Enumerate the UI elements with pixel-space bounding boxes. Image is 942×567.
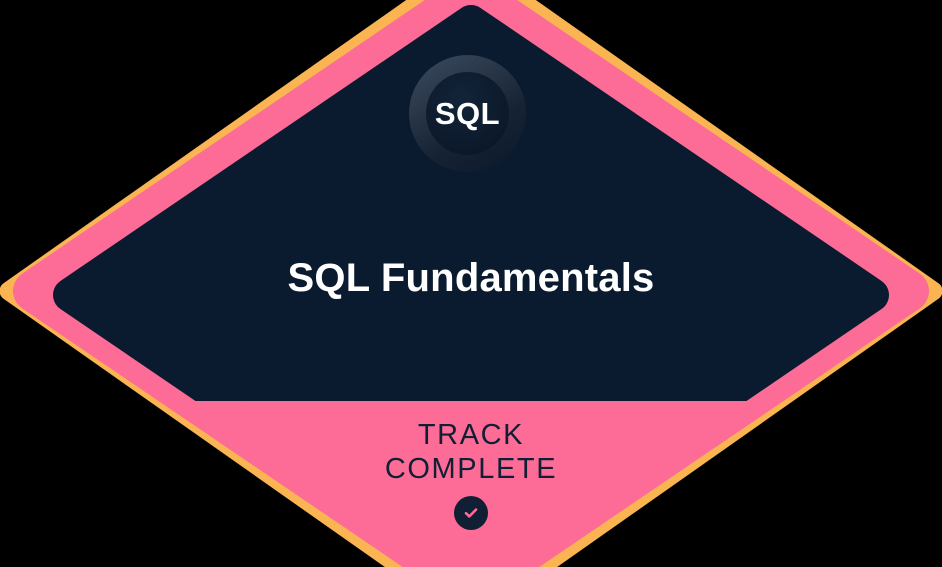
track-status-line-1: TRACK bbox=[418, 418, 524, 452]
check-mark-icon bbox=[462, 504, 480, 522]
emblem-label: SQL bbox=[435, 98, 500, 129]
sql-emblem-icon: SQL bbox=[409, 55, 526, 172]
track-status-line-2: COMPLETE bbox=[385, 452, 557, 486]
track-completion-badge: SQL SQL Fundamentals TRACK COMPLETE bbox=[0, 0, 942, 567]
badge-title: SQL Fundamentals bbox=[0, 256, 942, 300]
track-status: TRACK COMPLETE bbox=[0, 418, 942, 530]
check-circle-icon bbox=[454, 496, 488, 530]
emblem-inner-disc: SQL bbox=[426, 72, 509, 155]
